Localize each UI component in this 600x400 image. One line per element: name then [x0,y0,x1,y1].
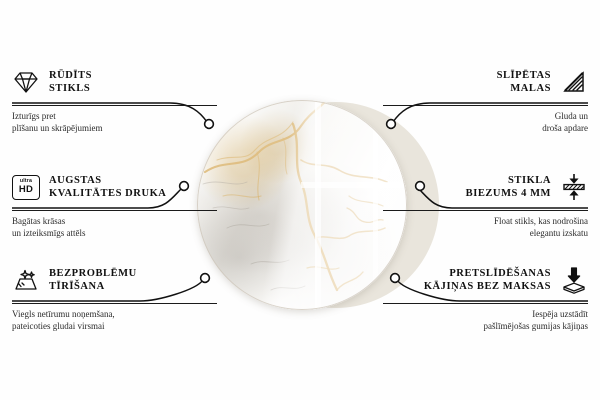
feature-header: RŪDĪTS STIKLS [12,62,217,102]
feature-title: RŪDĪTS STIKLS [49,69,92,96]
feature-title: BEZPROBLĒMU TĪRĪŠANA [49,267,137,294]
feature-header: ultra HD AUGSTAS KVALITĀTES DRUKA [12,167,217,207]
anti-slip-foot-icon [560,266,588,294]
feature-title: STIKLA BIEZUMS 4 MM [466,174,551,201]
feature-header: STIKLA BIEZUMS 4 MM [383,167,588,207]
divider [12,210,217,211]
infographic-canvas: RŪDĪTS STIKLS Izturīgs pret plīšanu un s… [0,0,600,400]
feature-print-quality: ultra HD AUGSTAS KVALITĀTES DRUKA Bagāta… [12,167,217,239]
feature-title: PRETSLĪDĒŠANAS KĀJIŅAS BEZ MAKSAS [424,267,551,294]
feature-header: PRETSLĪDĒŠANAS KĀJIŅAS BEZ MAKSAS [383,260,588,300]
feature-title: SLĪPĒTAS MALAS [497,69,551,96]
feature-header: BEZPROBLĒMU TĪRĪŠANA [12,260,217,300]
ultra-hd-icon: ultra HD [12,175,40,200]
divider [383,303,588,304]
divider [12,105,217,106]
feature-title: AUGSTAS KVALITĀTES DRUKA [49,174,166,201]
feature-glass-thickness: STIKLA BIEZUMS 4 MM Float stikls, kas no… [383,167,588,239]
feature-anti-slip-feet: PRETSLĪDĒŠANAS KĀJIŅAS BEZ MAKSAS Iespēj… [383,260,588,332]
feature-easy-cleaning: BEZPROBLĒMU TĪRĪŠANA Viegls netīrumu noņ… [12,260,217,332]
beveled-edge-icon [560,68,588,96]
thickness-arrows-icon [560,173,588,201]
divider [383,105,588,106]
divider [12,303,217,304]
feature-polished-edges: SLĪPĒTAS MALAS Gluda un droša apdare [383,62,588,134]
divider [383,210,588,211]
diamond-icon [12,68,40,96]
feature-tempered-glass: RŪDĪTS STIKLS Izturīgs pret plīšanu un s… [12,62,217,134]
ultra-hd-bottom-text: HD [19,185,33,195]
feature-header: SLĪPĒTAS MALAS [383,62,588,102]
sponge-sparkle-icon [12,266,40,294]
